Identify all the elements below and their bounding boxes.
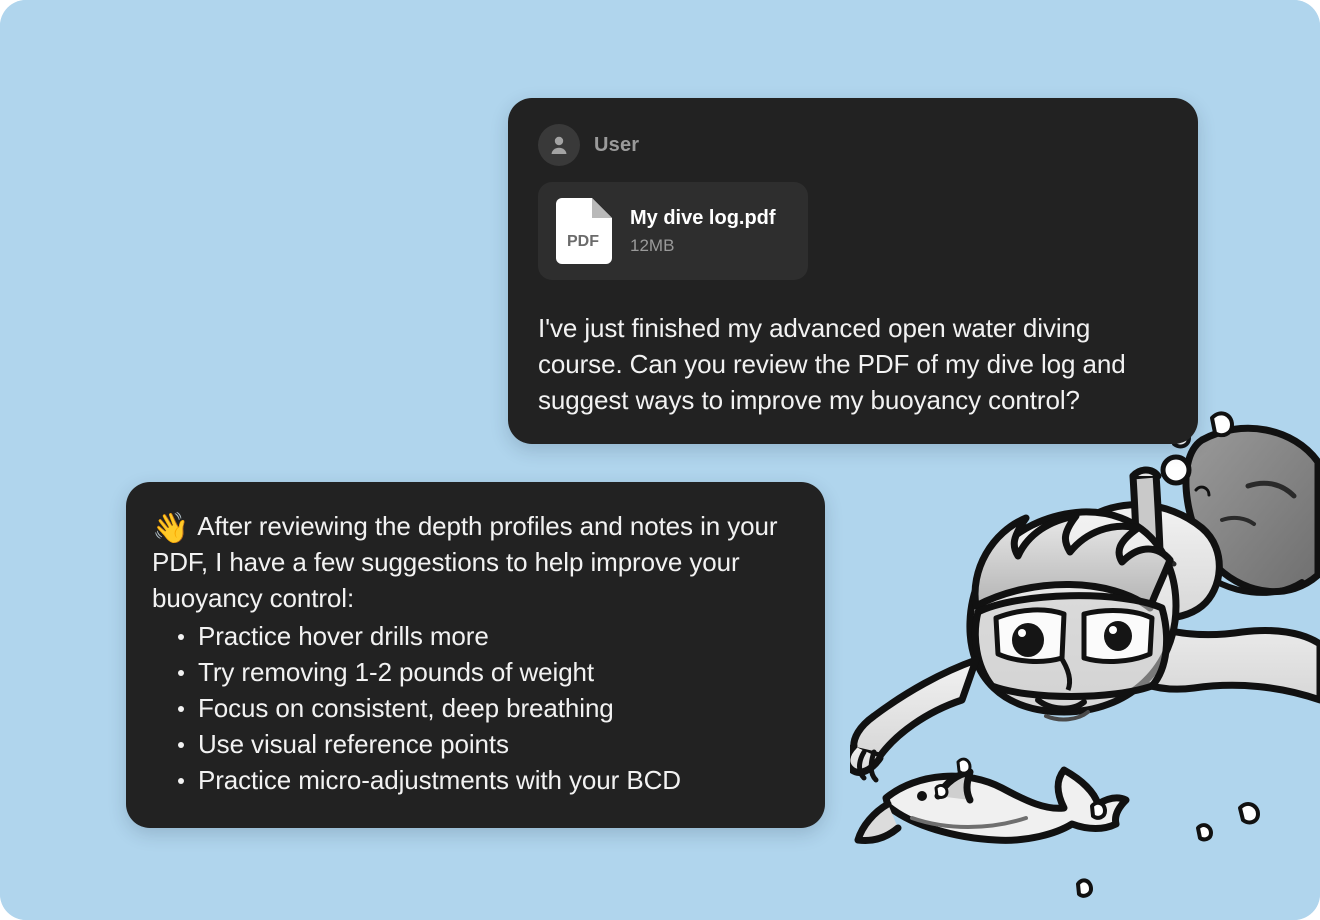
assistant-intro-text: After reviewing the depth profiles and n… — [152, 511, 777, 613]
person-icon — [538, 124, 580, 166]
assistant-message-body: 👋After reviewing the depth profiles and … — [152, 508, 797, 798]
list-item: Practice micro-adjustments with your BCD — [174, 762, 797, 798]
message-author-name: User — [594, 134, 639, 157]
attachment-chip[interactable]: PDF My dive log.pdf 12MB — [538, 182, 808, 280]
attachment-file-size: 12MB — [630, 236, 776, 256]
user-message-header: User — [538, 124, 1172, 166]
assistant-message-bubble: 👋After reviewing the depth profiles and … — [126, 482, 825, 828]
list-item: Focus on consistent, deep breathing — [174, 690, 797, 726]
waving-hand-emoji: 👋 — [152, 512, 189, 545]
list-item: Practice hover drills more — [174, 618, 797, 654]
user-message-bubble: User PDF My dive log.pdf 12MB I've just … — [508, 98, 1198, 444]
attachment-file-name: My dive log.pdf — [630, 207, 776, 230]
assistant-intro-paragraph: 👋After reviewing the depth profiles and … — [152, 508, 797, 616]
chat-screenshot-canvas: User PDF My dive log.pdf 12MB I've just … — [0, 0, 1320, 920]
suggestions-list: Practice hover drills more Try removing … — [152, 618, 797, 798]
attachment-meta: My dive log.pdf 12MB — [630, 207, 776, 256]
svg-text:PDF: PDF — [567, 233, 599, 250]
user-message-text: I've just finished my advanced open wate… — [538, 310, 1172, 418]
list-item: Try removing 1-2 pounds of weight — [174, 654, 797, 690]
list-item: Use visual reference points — [174, 726, 797, 762]
pdf-file-icon: PDF — [556, 198, 612, 264]
